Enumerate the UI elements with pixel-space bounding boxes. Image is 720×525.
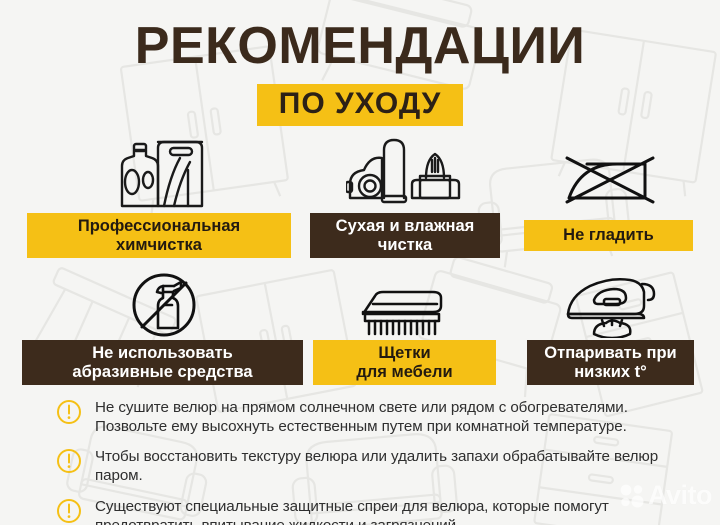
card-label-line1: Не гладить	[563, 226, 654, 245]
vacuum-cleaner-and-wipes-icon	[343, 136, 467, 208]
scrub-brush-icon	[356, 282, 448, 338]
card-label-do-not-iron[interactable]: Не гладить	[524, 220, 693, 251]
warning-exclamation-icon	[56, 448, 82, 474]
page-title: РЕКОМЕНДАЦИИ	[0, 16, 720, 76]
card-label-line1: Щетки	[378, 344, 430, 363]
steam-iron-icon	[562, 276, 662, 338]
page-subtitle-container: ПО УХОДУ	[0, 84, 720, 126]
card-label-dry-and-wet-cleaning[interactable]: Сухая и влажная чистка	[310, 213, 500, 258]
note-text: Существуют специальные защитные спреи дл…	[95, 497, 696, 525]
care-notes-list: Не сушите велюр на прямом солнечном свет…	[56, 398, 696, 525]
card-label-line2: химчистка	[116, 236, 202, 255]
card-label-line1: Не использовать	[92, 344, 232, 363]
note-item: Чтобы восстановить текстуру велюра или у…	[56, 447, 696, 485]
recommendations-infographic: РЕКОМЕНДАЦИИ ПО УХОДУ Профессиональная х…	[0, 0, 720, 525]
card-label-line1: Профессиональная	[78, 217, 240, 236]
crossed-out-iron-icon	[556, 146, 666, 208]
warning-exclamation-icon	[56, 399, 82, 425]
card-label-line2: чистка	[378, 236, 432, 255]
page-subtitle: ПО УХОДУ	[257, 84, 463, 126]
note-text: Не сушите велюр на прямом солнечном свет…	[95, 398, 696, 436]
card-label-professional-dry-cleaning[interactable]: Профессиональная химчистка	[27, 213, 291, 258]
note-item: Существуют специальные защитные спреи дл…	[56, 497, 696, 525]
card-label-line1: Отпаривать при	[544, 344, 676, 363]
card-label-line2: для мебели	[356, 363, 452, 382]
note-item: Не сушите велюр на прямом солнечном свет…	[56, 398, 696, 436]
card-label-line1: Сухая и влажная	[336, 217, 475, 236]
warning-exclamation-icon	[56, 498, 82, 524]
card-label-steam-low-temperature[interactable]: Отпаривать при низких t°	[527, 340, 694, 385]
detergent-bottle-and-pouch-icon	[104, 136, 216, 208]
card-label-no-abrasives[interactable]: Не использовать абразивные средства	[22, 340, 303, 385]
card-label-line2: низких t°	[574, 363, 647, 382]
crossed-out-spray-bottle-icon	[122, 270, 206, 338]
card-label-furniture-brushes[interactable]: Щетки для мебели	[313, 340, 496, 385]
note-text: Чтобы восстановить текстуру велюра или у…	[95, 447, 696, 485]
card-label-line2: абразивные средства	[72, 363, 252, 382]
